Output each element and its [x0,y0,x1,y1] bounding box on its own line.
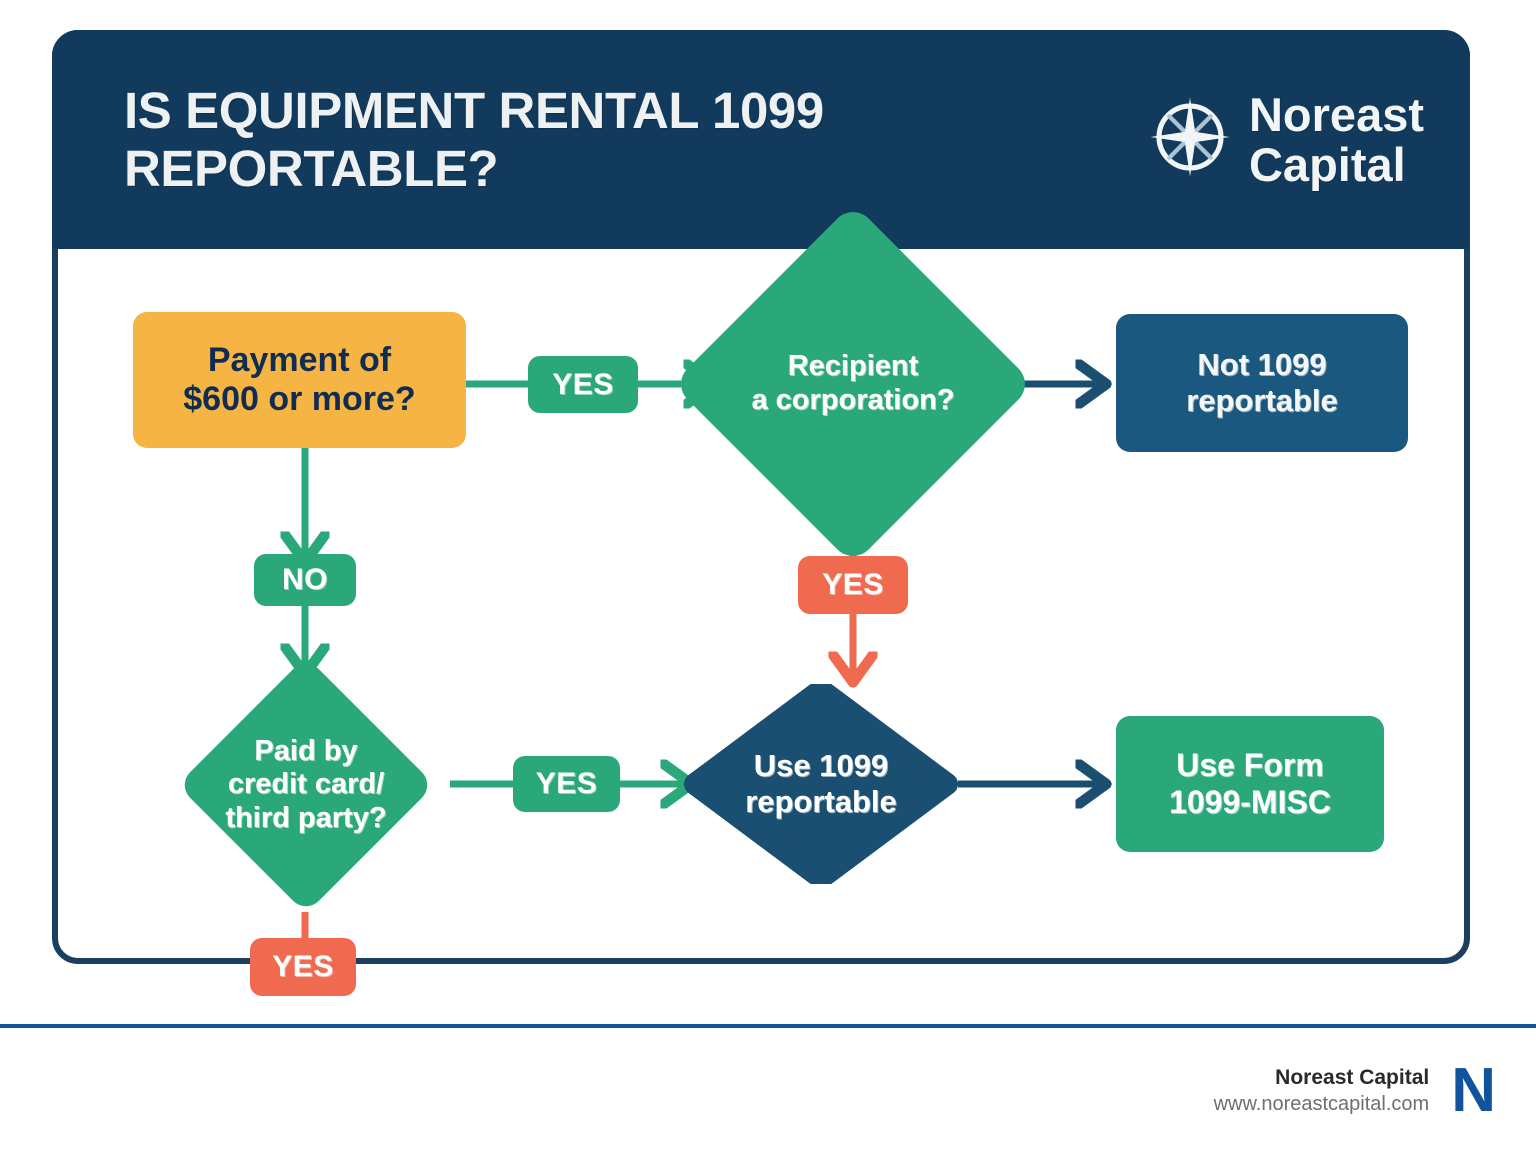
infographic-card: IS EQUIPMENT RENTAL 1099 REPORTABLE? [52,30,1470,964]
node-not-1099-reportable-line2: reportable [1186,383,1338,419]
edge-label-creditcard-down[interactable]: YES [250,938,356,996]
node-paid-by-credit-card-line1: Paid by [225,735,386,769]
node-use-1099-reportable-line1: Use 1099 [745,748,897,784]
edge-label-payment-to-creditcard[interactable]: NO [254,554,356,606]
footer-company-name: Noreast Capital [1214,1064,1430,1091]
node-payment-threshold[interactable]: Payment of $600 or more? [133,312,466,448]
node-paid-by-credit-card[interactable]: Paid by credit card/ third party? [215,694,397,876]
footer-website-url[interactable]: www.noreastcapital.com [1214,1091,1430,1118]
node-payment-threshold-line2: $600 or more? [183,380,415,419]
edge-label-payment-to-recipient[interactable]: YES [528,356,638,413]
flowchart: Payment of $600 or more? Recipient a cor… [58,36,1476,970]
node-use-1099-reportable-line2: reportable [745,784,897,820]
node-recipient-corporation-line2: a corporation? [751,384,954,418]
footer: Noreast Capital www.noreastcapital.com N [0,1028,1536,1154]
node-payment-threshold-line1: Payment of [183,341,415,380]
node-use-form-1099-misc[interactable]: Use Form 1099-MISC [1116,716,1384,852]
node-paid-by-credit-card-line3: third party? [225,802,386,836]
footer-text: Noreast Capital www.noreastcapital.com [1214,1064,1430,1118]
node-recipient-corporation-line1: Recipient [751,350,954,384]
edge-label-creditcard-to-use-1099[interactable]: YES [513,756,620,812]
node-not-1099-reportable[interactable]: Not 1099 reportable [1116,314,1408,452]
node-use-1099-reportable[interactable]: Use 1099 reportable [683,684,959,884]
node-use-form-1099-misc-line2: 1099-MISC [1169,784,1331,821]
node-use-form-1099-misc-line1: Use Form [1169,747,1331,784]
node-recipient-corporation[interactable]: Recipient a corporation? [725,256,981,512]
node-not-1099-reportable-line1: Not 1099 [1186,347,1338,383]
footer-logo-mark: N [1451,1060,1496,1122]
edge-label-recipient-to-use-1099[interactable]: YES [798,556,908,614]
node-paid-by-credit-card-line2: credit card/ [225,768,386,802]
